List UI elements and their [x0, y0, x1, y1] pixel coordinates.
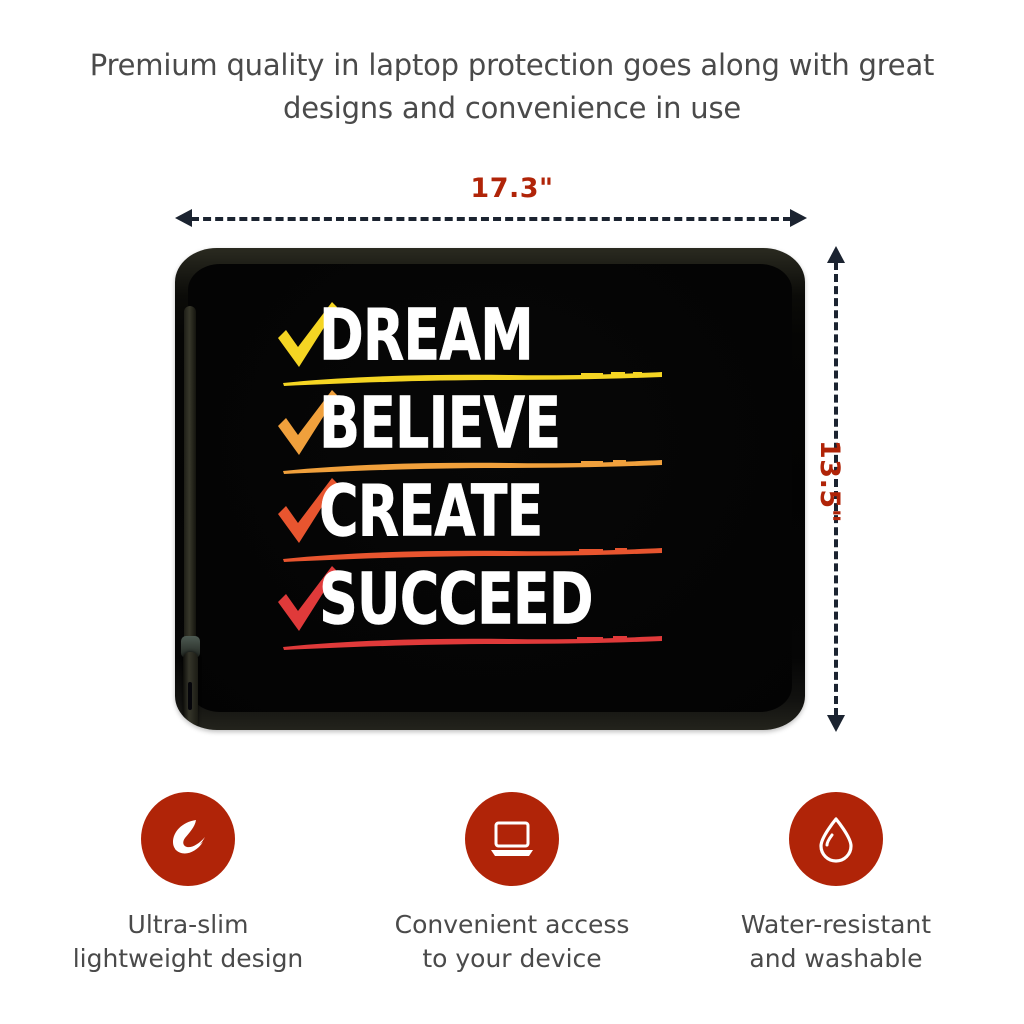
zipper-pull-tab: [183, 652, 198, 730]
artwork-row: CREATE: [275, 476, 695, 568]
headline-text: Premium quality in laptop protection goe…: [0, 44, 1024, 130]
arrow-up-icon: [827, 246, 845, 263]
width-dimension-line: [175, 208, 807, 230]
feature-ultra-slim: Ultra-slim lightweight design: [38, 792, 338, 976]
feature-caption: Ultra-slim lightweight design: [38, 908, 338, 976]
feature-icon-circle: [141, 792, 235, 886]
height-dimension-label: 13.5": [814, 440, 845, 523]
artwork-row: DREAM: [275, 300, 695, 392]
feature-caption: Water-resistant and washable: [686, 908, 986, 976]
underline-stroke: [281, 634, 663, 650]
artwork-word: BELIEVE: [319, 388, 560, 459]
feature-caption: Convenient access to your device: [362, 908, 662, 976]
artwork-row: SUCCEED: [275, 564, 695, 656]
feature-water-resistant: Water-resistant and washable: [686, 792, 986, 976]
feather-icon: [162, 813, 214, 865]
artwork-row: BELIEVE: [275, 388, 695, 480]
dashed-line: [191, 217, 791, 221]
arrow-right-icon: [790, 209, 807, 227]
width-dimension-label: 17.3": [0, 173, 1024, 204]
arrow-down-icon: [827, 715, 845, 732]
feature-icon-circle: [465, 792, 559, 886]
arrow-left-icon: [175, 209, 192, 227]
artwork-word: CREATE: [319, 476, 542, 547]
feature-icon-circle: [789, 792, 883, 886]
sleeve-artwork: DREAM BELIEVE: [275, 300, 695, 670]
laptop-icon: [485, 812, 539, 866]
laptop-sleeve-product: DREAM BELIEVE: [175, 248, 805, 730]
zipper-track: [184, 306, 196, 678]
feature-convenient-access: Convenient access to your device: [362, 792, 662, 976]
artwork-word: DREAM: [319, 300, 533, 371]
water-drop-icon: [810, 813, 862, 865]
artwork-word: SUCCEED: [319, 564, 593, 635]
infographic-canvas: Premium quality in laptop protection goe…: [0, 0, 1024, 1024]
